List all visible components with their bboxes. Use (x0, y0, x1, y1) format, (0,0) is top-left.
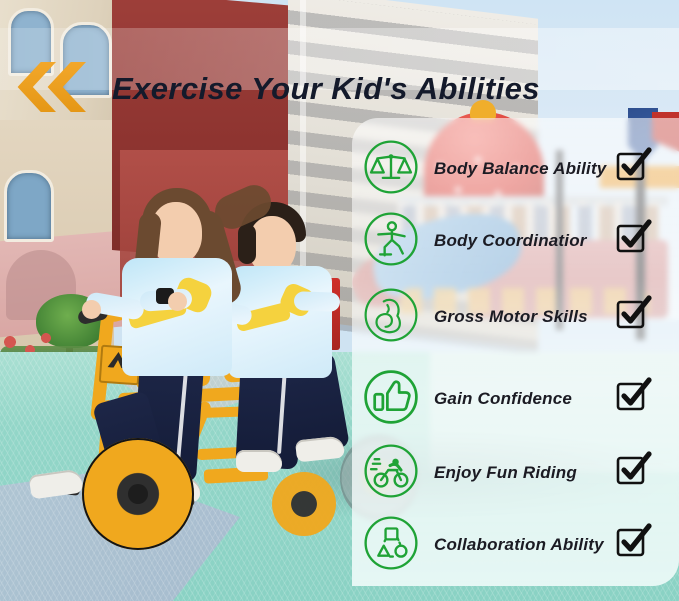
feature-row: Gain Confidence (352, 366, 679, 432)
boy-shoe (236, 450, 282, 472)
feature-label: Body Balance Ability (434, 136, 606, 202)
flexed-bicep-icon (362, 286, 420, 344)
header-band: Exercise Your Kid's Abilities (0, 28, 679, 90)
girl-hand (82, 300, 101, 319)
product-feature-poster: Exercise Your Kid's Abilities Body Balan… (0, 0, 679, 601)
boy-hair-side (238, 224, 256, 264)
feature-row: Gross Motor Skills (352, 284, 679, 350)
checkbox-checked[interactable] (616, 150, 646, 180)
chevron-left-icon (46, 62, 86, 112)
kids-on-tricycle (0, 150, 360, 601)
trike-rear-wheel (272, 472, 336, 536)
running-figure-icon (362, 210, 420, 268)
thumbs-up-icon (362, 368, 420, 426)
girl-hand (168, 292, 187, 311)
feature-row: Enjoy Fun Riding (352, 440, 679, 506)
feature-row: Body Coordinatior (352, 208, 679, 274)
feature-label: Gain Confidence (434, 366, 572, 432)
feature-row: Body Balance Ability (352, 136, 679, 202)
feature-label: Body Coordinatior (434, 208, 587, 274)
checkbox-checked[interactable] (616, 526, 646, 556)
checkbox-checked[interactable] (616, 454, 646, 484)
feature-label: Gross Motor Skills (434, 284, 588, 350)
checkbox-checked[interactable] (616, 298, 646, 328)
cyclist-icon (362, 442, 420, 500)
feature-list: Body Balance Ability (352, 118, 679, 586)
checkbox-checked[interactable] (616, 380, 646, 410)
page-title: Exercise Your Kid's Abilities (112, 64, 658, 114)
feature-label: Enjoy Fun Riding (434, 440, 577, 506)
checkbox-checked[interactable] (616, 222, 646, 252)
boy-arm (294, 291, 341, 312)
trike-front-hub (128, 484, 148, 504)
double-chevron-left-icon (16, 62, 100, 112)
feature-label: Collaboration Ability (434, 512, 604, 578)
feature-row: Collaboration Ability (352, 512, 679, 578)
collaboration-icon (362, 514, 420, 572)
balance-scale-icon (362, 138, 420, 196)
